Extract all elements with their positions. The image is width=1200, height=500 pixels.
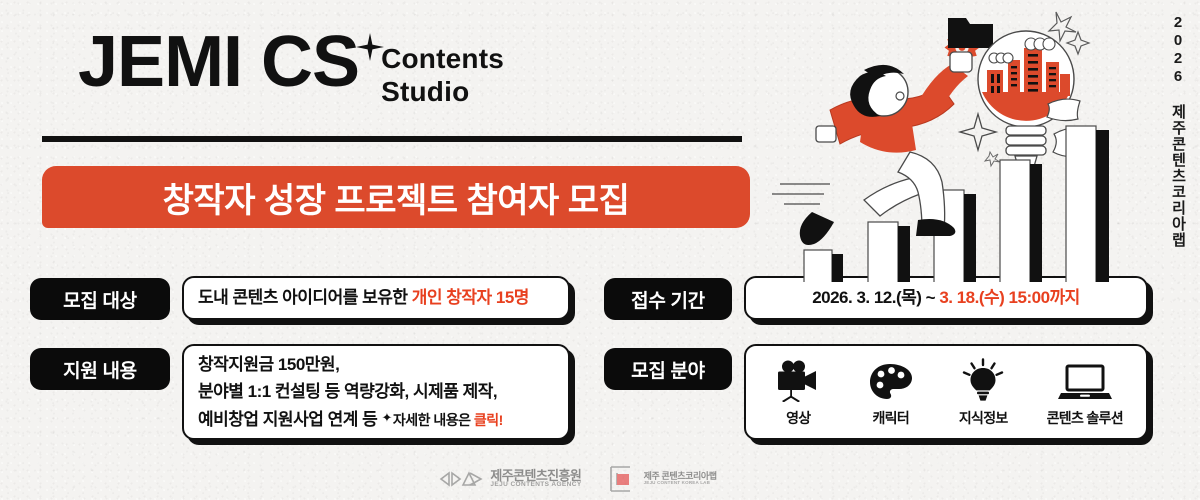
box-period: 2026. 3. 12.(목) ~ 3. 18.(수) 15:00까지 (744, 276, 1148, 320)
headline-text: 창작자 성장 프로젝트 참여자 모집 (163, 173, 630, 222)
brand-subtitle-line2: Studio (381, 75, 504, 108)
support-note-plain: 자세한 내용은 (393, 412, 474, 428)
logo-jeju-content-korea-lab: 제주 콘텐츠코리아랩 JEJU CONTENT KOREA LAB (608, 464, 717, 494)
brand-block: JEMI CS Contents Studio (78, 28, 504, 108)
box-fields: 영상 캐릭터 (744, 344, 1148, 440)
small-star-icon: ✦ (381, 410, 391, 425)
label-period: 접수 기간 (604, 278, 732, 320)
side-label-text: 2026 제주콘텐츠코리아랩 (1171, 14, 1186, 248)
brand-subtitle: Contents Studio (381, 42, 504, 108)
support-note-highlight: 클릭! (474, 412, 503, 428)
field-item-character[interactable]: 캐릭터 (845, 356, 937, 428)
field-label-solution: 콘텐츠 솔루션 (1047, 408, 1123, 428)
jca-mark-icon (439, 469, 483, 489)
footer-logos: 제주콘텐츠진흥원 JEJU CONTENTS AGENCY 제주 콘텐츠코리아랩… (0, 464, 1156, 494)
box-support: 창작지원금 150만원, 분야별 1:1 컨설팅 등 역량강화, 시제품 제작,… (182, 344, 570, 440)
period-value: 2026. 3. 12.(목) ~ 3. 18.(수) 15:00까지 (760, 284, 1132, 312)
palette-icon (868, 356, 914, 402)
support-line-2: 분야별 1:1 컨설팅 등 역량강화, 시제품 제작, (198, 378, 554, 406)
hero-illustration (768, 4, 1160, 282)
label-target-text: 모집 대상 (63, 286, 137, 313)
lightbulb-icon (961, 356, 1005, 402)
label-fields-text: 모집 분야 (631, 356, 705, 383)
side-label: 2026 제주콘텐츠코리아랩 (1156, 0, 1200, 500)
label-fields: 모집 분야 (604, 348, 732, 390)
movie-camera-icon (771, 356, 825, 402)
logo-jeju-contents-agency: 제주콘텐츠진흥원 JEJU CONTENTS AGENCY (439, 469, 581, 489)
label-support-text: 지원 내용 (63, 356, 137, 383)
laptop-icon (1058, 356, 1112, 402)
target-value-plain: 도내 콘텐츠 아이디어를 보유한 (198, 288, 412, 307)
support-line-3-text: 예비창업 지원사업 연계 등 (198, 410, 377, 429)
period-value-plain: 2026. 3. 12.(목) ~ (812, 288, 939, 307)
label-target: 모집 대상 (30, 278, 170, 320)
headline-banner: 창작자 성장 프로젝트 참여자 모집 (42, 166, 750, 228)
target-value-highlight: 개인 창작자 15명 (412, 288, 529, 307)
field-item-knowledge[interactable]: 지식정보 (937, 356, 1029, 428)
ckl-mark-icon (608, 464, 638, 494)
support-line-3: 예비창업 지원사업 연계 등 ✦자세한 내용은 클릭! (198, 406, 554, 434)
target-value: 도내 콘텐츠 아이디어를 보유한 개인 창작자 15명 (198, 284, 554, 312)
header-divider (42, 136, 742, 142)
brand-subtitle-line1: Contents (381, 43, 504, 74)
logo1-english: JEJU CONTENTS AGENCY (490, 482, 581, 489)
support-line-1: 창작지원금 150만원, (198, 351, 554, 379)
period-value-highlight: 3. 18.(수) 15:00까지 (939, 288, 1079, 307)
support-detail-note[interactable]: ✦자세한 내용은 클릭! (381, 412, 502, 428)
label-period-text: 접수 기간 (631, 286, 705, 313)
field-label-knowledge: 지식정보 (959, 408, 1008, 428)
label-support: 지원 내용 (30, 348, 170, 390)
field-item-video[interactable]: 영상 (752, 356, 844, 428)
brand-title: JEMI CS (78, 28, 359, 96)
logo2-english: JEJU CONTENT KOREA LAB (644, 481, 717, 486)
motion-lines (772, 184, 830, 204)
field-item-solution[interactable]: 콘텐츠 솔루션 (1030, 356, 1140, 428)
field-label-character: 캐릭터 (872, 408, 909, 428)
field-label-video: 영상 (786, 408, 810, 428)
folder-icon (948, 18, 993, 48)
poster-canvas: JEMI CS Contents Studio 창작자 성장 프로젝트 참여자 … (0, 0, 1200, 500)
logo1-korean: 제주콘텐츠진흥원 (490, 469, 581, 483)
box-target: 도내 콘텐츠 아이디어를 보유한 개인 창작자 15명 (182, 276, 570, 320)
